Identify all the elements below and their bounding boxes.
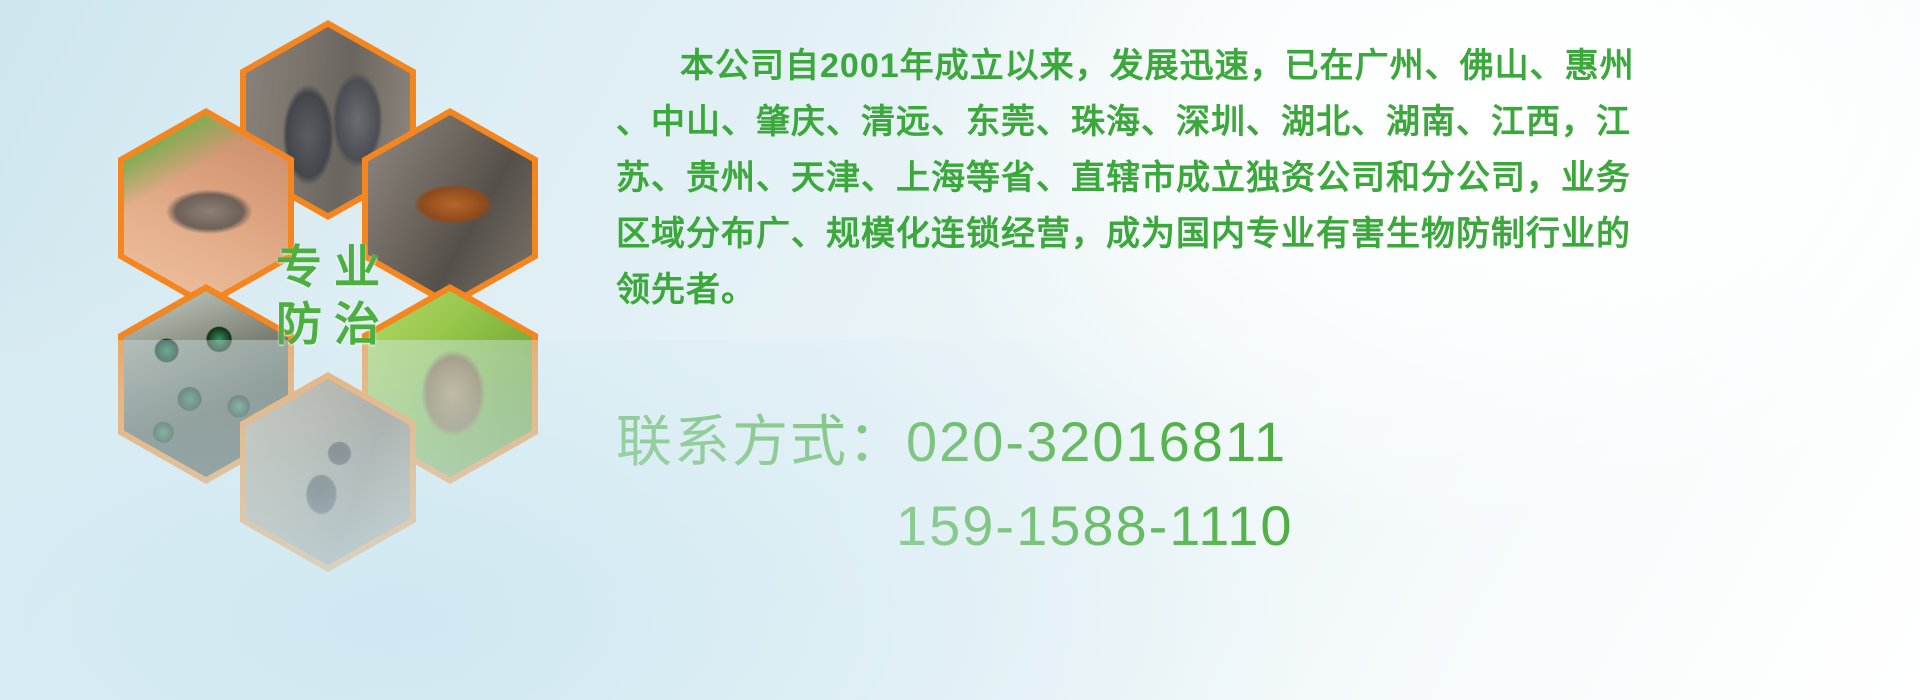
cockroach-photo-image [368,115,532,301]
company-intro-paragraph: 本公司自2001年成立以来，发展迅速，已在广州、佛山、惠州 、中山、肇庆、清远、… [616,38,1888,318]
intro-line-5: 领先者。 [616,262,1888,318]
contact-phone-secondary[interactable]: 159-1588-1110 [616,484,1896,568]
promo-banner: 专业 防治 本公司自2001年成立以来，发展迅速，已在广州、佛山、惠州 、中山、… [0,0,1920,700]
intro-line-4: 区域分布广、规模化连锁经营，成为国内专业有害生物防制行业的 [616,206,1888,262]
mosquito-photo-image [124,115,288,301]
contact-block: 联系方式：020-32016811 159-1588-1110 [616,400,1896,568]
intro-line-1: 本公司自2001年成立以来，发展迅速，已在广州、佛山、惠州 [616,38,1888,94]
intro-line-3: 苏、贵州、天津、上海等省、直辖市成立独资公司和分公司，业务 [616,150,1888,206]
intro-line-2: 、中山、肇庆、清远、东莞、珠海、深圳、湖北、湖南、江西，江 [616,94,1888,150]
hexagon-image-cluster: 专业 防治 [88,8,588,568]
contact-phone-primary[interactable]: 联系方式：020-32016811 [616,400,1896,484]
ant-photo-image [246,379,410,565]
